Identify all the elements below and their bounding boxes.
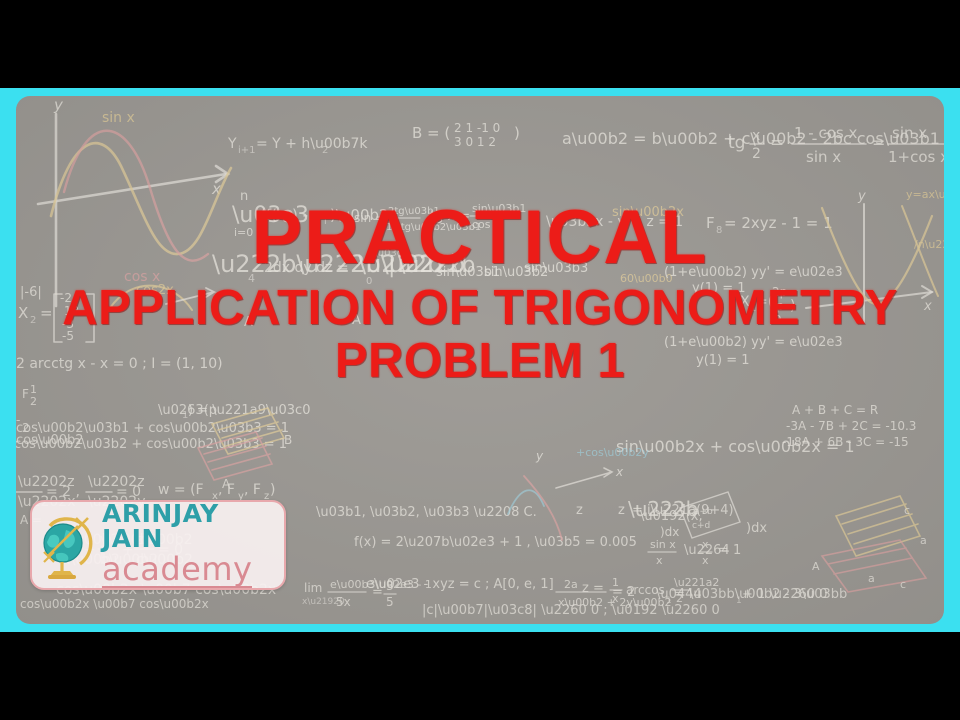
svg-text:= 2 ,: = 2 ,	[46, 484, 80, 500]
svg-text:8: 8	[716, 225, 722, 236]
globe-icon	[38, 510, 100, 580]
svg-text:) - y: ) - y	[292, 206, 322, 224]
svg-text:F: F	[706, 214, 715, 232]
svg-text:2: 2	[30, 315, 36, 326]
svg-text:x: x	[702, 538, 709, 551]
svg-text:x: x	[615, 465, 624, 479]
svg-text:sin x: sin x	[892, 124, 927, 142]
svg-text:\u03b1, \u03b2, \u03b3 \u2208: \u03b1, \u03b2, \u03b3 \u2208 C.	[316, 505, 537, 520]
academy-logo[interactable]: ARINJAY JAIN academy	[30, 500, 286, 590]
svg-text:-p: -p	[772, 299, 784, 313]
svg-text:2: 2	[322, 145, 328, 156]
svg-text:A: A	[222, 477, 231, 491]
letterbox-bottom	[0, 632, 960, 720]
svg-text:) = \u221a9\u03c0: ) = \u221a9\u03c0	[188, 403, 310, 418]
svg-text:sin\u03b1: sin\u03b1	[472, 202, 526, 215]
svg-text:w = (F: w = (F	[158, 482, 204, 498]
svg-text:cos x: cos x	[472, 218, 501, 231]
svg-text:1: 1	[612, 576, 619, 589]
svg-text:lim: lim	[304, 581, 322, 595]
svg-text:= 2xyz - 1 = 1: = 2xyz - 1 = 1	[724, 214, 833, 232]
svg-text:A + B + C = R: A + B + C = R	[792, 403, 878, 417]
svg-text:2p: 2p	[772, 285, 787, 299]
svg-text:y: y	[53, 96, 64, 114]
svg-text:\u221a2: \u221a2	[674, 576, 719, 589]
svg-text:2: 2	[676, 592, 683, 605]
svg-text:c+d: c+d	[692, 521, 710, 531]
svg-text:= i\u221a(9+4): = i\u221a(9+4)	[632, 503, 734, 518]
svg-text:y(1) = 1: y(1) = 1	[692, 281, 746, 296]
logo-line-academy: academy	[102, 553, 252, 588]
svg-text:x: x	[702, 554, 709, 567]
svg-text:3: 3	[386, 579, 394, 593]
svg-text:2: 2	[30, 395, 37, 408]
svg-text:=: =	[872, 133, 885, 152]
svg-text:z: z	[618, 503, 625, 518]
svg-text:A: A	[244, 315, 253, 330]
svg-text:Y: Y	[227, 136, 237, 152]
svg-text:=: =	[40, 304, 53, 322]
svg-text:sin\u00b2x + cos\u00b2x = 1: sin\u00b2x + cos\u00b2x = 1	[616, 437, 855, 456]
svg-text:(f(x: (f(x	[260, 206, 286, 224]
svg-text:): )	[270, 482, 275, 498]
svg-text:sin x: sin x	[102, 110, 135, 126]
svg-text:x: x	[656, 554, 663, 567]
svg-text:13: 13	[64, 304, 79, 318]
svg-text:0: 0	[774, 313, 782, 327]
svg-text:/n\u221ax: /n\u221ax	[914, 238, 944, 251]
svg-text:|: |	[388, 253, 395, 278]
svg-text:(1+e\u00b2) yy' = e\u02e3: (1+e\u00b2) yy' = e\u02e3	[664, 265, 843, 280]
svg-text:tg: tg	[728, 133, 745, 153]
svg-text:5: 5	[386, 595, 394, 609]
svg-text:= 1: = 1	[718, 543, 741, 558]
svg-text:= 0: = 0	[116, 484, 141, 500]
svg-text:i: i	[324, 216, 327, 227]
svg-text:a: a	[868, 572, 875, 585]
svg-text:, F: , F	[244, 482, 261, 498]
svg-text:B: B	[284, 433, 292, 447]
svg-text:A: A	[812, 560, 820, 573]
svg-text:2: 2	[752, 146, 761, 162]
svg-text:+ 1 \u2260 0: + 1 \u2260 0	[742, 587, 828, 602]
svg-text:sin\u03b3: sin\u03b3	[524, 261, 588, 276]
svg-text:2dx dy dz =: 2dx dy dz =	[264, 260, 349, 276]
svg-text:y(1) = 1: y(1) = 1	[696, 353, 750, 368]
svg-text:cos\u00b2x \u00b7 cos\u00b2x: cos\u00b2x \u00b7 cos\u00b2x	[20, 597, 209, 611]
svg-text:=(: =(	[756, 294, 773, 310]
svg-text:cos\u00b2\u03b2 + cos\u00b2\u0: cos\u00b2\u03b2 + cos\u00b2\u03b3 = 1	[16, 437, 287, 452]
svg-text:tg x =: tg x =	[430, 209, 470, 224]
svg-text:|-6|: |-6|	[20, 285, 42, 300]
svg-text:)dx: )dx	[660, 525, 679, 539]
svg-text:(1+e\u00b2) yy' = e\u02e3: (1+e\u00b2) yy' = e\u02e3	[664, 335, 843, 350]
svg-text:-3A - 7B + 2C = -10.3: -3A - 7B + 2C = -10.3	[786, 419, 916, 433]
svg-text:sin x: sin x	[650, 538, 676, 551]
svg-text:2 arcctg x - x = 0 ; I = (1, 1: 2 arcctg x - x = 0 ; I = (1, 10)	[16, 356, 223, 372]
svg-text:3 0 1 2: 3 0 1 2	[454, 135, 496, 149]
svg-text:2 1 -1 0: 2 1 -1 0	[454, 121, 500, 135]
svg-text:z: z	[576, 503, 583, 518]
svg-text:z =: z =	[582, 581, 604, 596]
svg-text:1+cos x: 1+cos x	[888, 148, 944, 166]
svg-text:i: i	[288, 216, 291, 227]
svg-text:= Y + h\u00b7k: = Y + h\u00b7k	[256, 136, 368, 152]
svg-text:)dx: )dx	[746, 521, 767, 536]
svg-text:F: F	[22, 387, 29, 401]
video-player-screen: .c { fill:#F2EFE8; font-family:"DejaVu S…	[0, 0, 960, 720]
letterbox-top	[0, 0, 960, 88]
svg-text:x: x	[612, 592, 619, 605]
svg-text:4: 4	[248, 272, 255, 285]
svg-text:X: X	[18, 304, 28, 322]
svg-text:+cos\u00b2y: +cos\u00b2y	[576, 446, 649, 459]
svg-text:): )	[514, 124, 520, 142]
svg-text:): )	[790, 298, 795, 314]
svg-text:1: 1	[666, 596, 672, 606]
svg-text:A: A	[352, 313, 361, 328]
svg-text:i=0: i=0	[234, 226, 253, 239]
svg-text:-2: -2	[60, 291, 72, 305]
svg-text:arccos: arccos	[626, 583, 665, 597]
logo-line-arinjay-jain: ARINJAY JAIN	[102, 501, 284, 551]
svg-text:-5: -5	[62, 329, 74, 343]
svg-text:i+1: i+1	[238, 145, 256, 156]
svg-text:sin =: sin =	[354, 211, 385, 225]
svg-text:x: x	[752, 128, 760, 144]
svg-text:1: 1	[736, 596, 742, 606]
svg-text:sin x: sin x	[806, 148, 841, 166]
svg-text:a: a	[920, 534, 927, 547]
svg-text:f(x) = 2\u207b\u02e3 + 1 , \u0: f(x) = 2\u207b\u02e3 + 1 , \u03b5 = 0.00…	[354, 535, 637, 550]
svg-text:y: y	[535, 449, 544, 463]
svg-text:n: n	[240, 189, 248, 204]
svg-text:2a: 2a	[564, 578, 578, 591]
logo-wordmark: ARINJAY JAIN academy	[102, 501, 284, 590]
svg-text:=: =	[770, 133, 784, 153]
svg-text:y: y	[857, 189, 866, 204]
svg-text:y=ax\u00b2: y=ax\u00b2	[906, 188, 944, 201]
svg-text:X: X	[740, 294, 750, 310]
svg-text:1 - cos x: 1 - cos x	[794, 124, 857, 142]
svg-text:x: x	[923, 299, 932, 314]
svg-text:0: 0	[366, 276, 372, 287]
svg-text:=: =	[372, 585, 383, 600]
svg-text:B = (: B = (	[412, 124, 450, 142]
svg-text:c: c	[904, 504, 910, 517]
svg-text:5x: 5x	[336, 595, 351, 609]
svg-text:c: c	[900, 578, 906, 591]
svg-text:sin\u00b2x: sin\u00b2x	[612, 205, 684, 220]
slide-canvas: .c { fill:#F2EFE8; font-family:"DejaVu S…	[16, 96, 944, 624]
